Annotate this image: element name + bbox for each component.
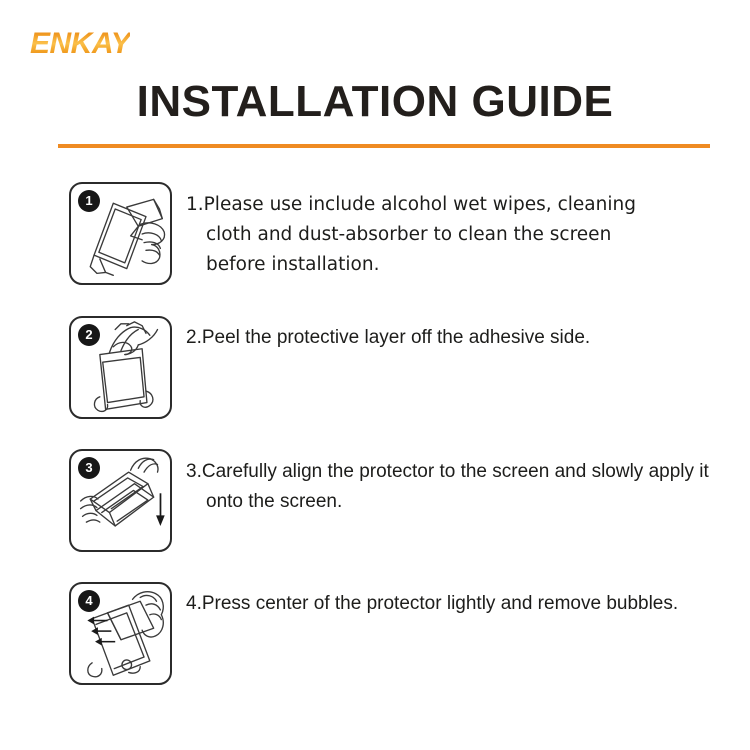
down-arrow-icon <box>156 493 165 526</box>
step-3-badge: 3 <box>78 457 100 479</box>
step-1-badge: 1 <box>78 190 100 212</box>
step-3-badge-label: 3 <box>85 460 92 475</box>
step-3-text: 3.Carefully align the protector to the s… <box>186 457 718 517</box>
step-4-badge: 4 <box>78 590 100 612</box>
step-1-badge-label: 1 <box>85 193 92 208</box>
step-4-text: 4.Press center of the protector lightly … <box>186 589 706 619</box>
steps-list: 1 1.Please use include alcohol wet wipes… <box>0 0 750 750</box>
step-1-text: 1.Please use include alcohol wet wipes, … <box>186 190 676 280</box>
step-2-text: 2.Peel the protective layer off the adhe… <box>186 323 706 353</box>
step-2-badge-label: 2 <box>85 327 92 342</box>
step-2-badge: 2 <box>78 324 100 346</box>
step-4-badge-label: 4 <box>85 593 92 608</box>
